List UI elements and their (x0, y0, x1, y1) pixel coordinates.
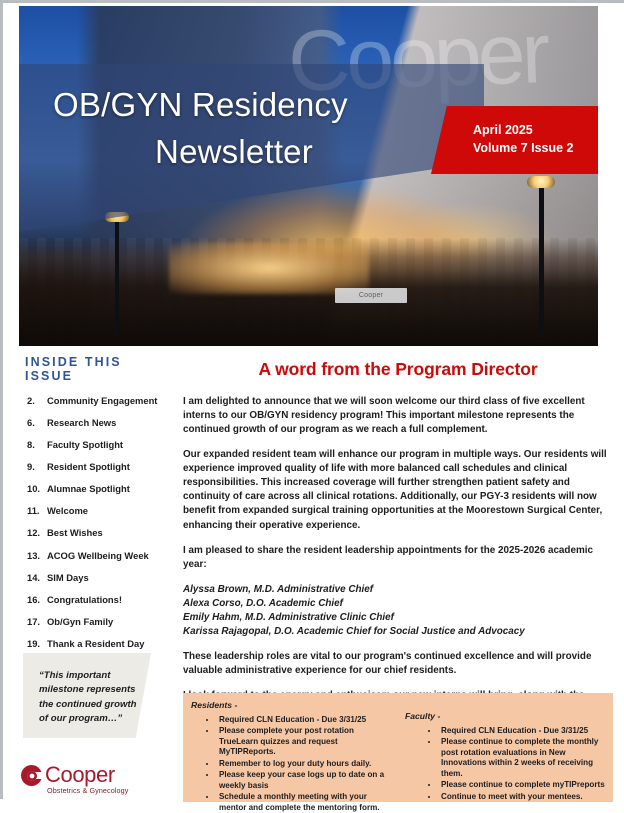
residents-heading: Residents - (191, 700, 391, 710)
issue-date: April 2025 (473, 122, 574, 140)
cooper-logo: Cooper Obstetrics & Gynecology (21, 763, 171, 799)
article-paragraph: Our expanded resident team will enhance … (183, 448, 613, 532)
toc-item-page: 12. (21, 527, 47, 540)
task-item: Schedule a monthly meeting with your men… (217, 792, 391, 813)
toc-item-label: Faculty Spotlight (47, 439, 173, 452)
toc-item-label: Resident Spotlight (47, 461, 173, 474)
toc-item-page: 2. (21, 395, 47, 408)
street-lamp-post-right (539, 186, 544, 338)
pull-quote-text: “This important milestone represents the… (23, 653, 151, 727)
chief-appointment: Alexa Corso, D.O. Academic Chief (183, 597, 613, 611)
toc-item-page: 11. (21, 505, 47, 518)
residents-task-list: Required CLN Education - Due 3/31/25Plea… (191, 715, 391, 813)
toc-item-label: ACOG Wellbeing Week (47, 550, 173, 563)
program-director-article: A word from the Program Director I am de… (183, 359, 613, 742)
task-item: Required CLN Education - Due 3/31/25 (217, 715, 391, 725)
toc-item[interactable]: 19.Thank a Resident Day (21, 638, 173, 651)
toc-item-label: Alumnae Spotlight (47, 483, 173, 496)
inside-this-issue: INSIDE THIS ISSUE 2.Community Engagement… (21, 355, 173, 695)
article-paragraph: I am pleased to share the resident leade… (183, 544, 613, 572)
issue-volume: Volume 7 Issue 2 (473, 140, 574, 158)
task-item: Please complete your post rotation TrueL… (217, 726, 391, 757)
toc-item[interactable]: 9.Resident Spotlight (21, 461, 173, 474)
newsletter-title-line1: OB/GYN Residency (53, 86, 348, 123)
street-lamp-post-left (115, 220, 119, 338)
toc-item-label: Ob/Gyn Family (47, 616, 173, 629)
chief-appointment: Alyssa Brown, M.D. Administrative Chief (183, 583, 613, 597)
cooper-department-subtitle: Obstetrics & Gynecology (47, 786, 128, 795)
toc-heading: INSIDE THIS ISSUE (25, 355, 173, 383)
task-item: Remember to log your duty hours daily. (217, 759, 391, 769)
faculty-column: Faculty - Required CLN Education - Due 3… (395, 693, 613, 802)
task-item: Please continue to complete myTIPreports (439, 780, 607, 790)
faculty-task-list: Required CLN Education - Due 3/31/25Plea… (405, 726, 607, 802)
issue-banner: April 2025 Volume 7 Issue 2 (431, 106, 598, 174)
pull-quote: “This important milestone represents the… (23, 653, 151, 738)
article-paragraph: These leadership roles are vital to our … (183, 650, 613, 678)
building-glass-glow (169, 242, 369, 294)
task-item: Please continue to complete the monthly … (439, 737, 607, 779)
toc-item-page: 9. (21, 461, 47, 474)
issue-banner-text: April 2025 Volume 7 Issue 2 (473, 122, 574, 158)
action-items-band: Residents - Required CLN Education - Due… (183, 693, 613, 802)
cooper-wordmark: Cooper (45, 762, 115, 788)
task-item: Continue to meet with your mentees. (439, 792, 607, 802)
toc-item-page: 16. (21, 594, 47, 607)
street-lamp-head-right (527, 176, 555, 188)
article-paragraph: I am delighted to announce that we will … (183, 395, 613, 437)
toc-item[interactable]: 2.Community Engagement (21, 395, 173, 408)
toc-item-page: 8. (21, 439, 47, 452)
building-cooper-sign: Cooper (335, 288, 407, 303)
toc-item-page: 14. (21, 572, 47, 585)
article-heading: A word from the Program Director (183, 359, 613, 380)
chief-appointments-list: Alyssa Brown, M.D. Administrative ChiefA… (183, 583, 613, 639)
cooper-c-mark-icon (21, 765, 42, 786)
hero-banner: Cooper Cooper OB/GYN Residency Newslette… (19, 6, 598, 346)
toc-item[interactable]: 10.Alumnae Spotlight (21, 483, 173, 496)
toc-item[interactable]: 8.Faculty Spotlight (21, 439, 173, 452)
toc-item[interactable]: 12.Best Wishes (21, 527, 173, 540)
toc-list: 2.Community Engagement6.Research News8.F… (21, 395, 173, 685)
toc-item-label: Thank a Resident Day (47, 638, 173, 651)
toc-item-page: 6. (21, 417, 47, 430)
toc-item[interactable]: 16.Congratulations! (21, 594, 173, 607)
task-item: Required CLN Education - Due 3/31/25 (439, 726, 607, 736)
newsletter-page: Cooper Cooper OB/GYN Residency Newslette… (0, 0, 624, 799)
toc-item[interactable]: 14.SIM Days (21, 572, 173, 585)
toc-item-page: 17. (21, 616, 47, 629)
toc-item-label: Best Wishes (47, 527, 173, 540)
residents-column: Residents - Required CLN Education - Due… (183, 693, 395, 802)
toc-item-label: Welcome (47, 505, 173, 518)
chief-appointment: Karissa Rajagopal, D.O. Academic Chief f… (183, 625, 613, 639)
task-item: Please keep your case logs up to date on… (217, 770, 391, 791)
toc-item-label: Research News (47, 417, 173, 430)
toc-item-page: 10. (21, 483, 47, 496)
toc-item[interactable]: 11.Welcome (21, 505, 173, 518)
newsletter-title: OB/GYN Residency Newsletter (53, 82, 453, 176)
toc-item[interactable]: 17.Ob/Gyn Family (21, 616, 173, 629)
chief-appointment: Emily Hahm, M.D. Administrative Clinic C… (183, 611, 613, 625)
toc-item-label: SIM Days (47, 572, 173, 585)
toc-item-label: Congratulations! (47, 594, 173, 607)
toc-item-page: 19. (21, 638, 47, 651)
toc-item-page: 13. (21, 550, 47, 563)
faculty-heading: Faculty - (405, 711, 607, 721)
newsletter-title-line2: Newsletter (53, 129, 453, 176)
toc-item[interactable]: 13.ACOG Wellbeing Week (21, 550, 173, 563)
toc-item-label: Community Engagement (47, 395, 173, 408)
toc-item[interactable]: 6.Research News (21, 417, 173, 430)
